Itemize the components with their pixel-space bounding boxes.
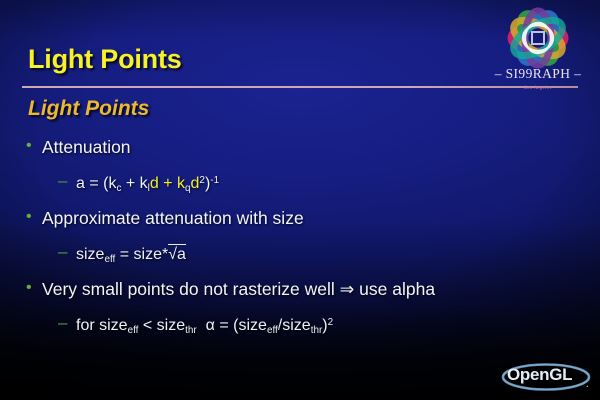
opengl-logo: OpenGL .: [500, 362, 592, 392]
bullet-dot-icon: •: [26, 138, 42, 154]
bullet-text: Approximate attenuation with size: [42, 209, 304, 227]
bullet-dash-icon: –: [58, 172, 76, 189]
slide-subtitle: Light Points: [28, 97, 149, 121]
list-item: • Approximate attenuation with size: [26, 209, 586, 228]
bullet-list: • Attenuation – a = (kc + kld + kqd2)-1 …: [26, 138, 586, 336]
bullet-dot-icon: •: [26, 280, 42, 296]
list-item: – a = (kc + kld + kqd2)-1: [26, 174, 586, 193]
slide-canvas: – SI99RAPH – Los Angeles Light Points Li…: [0, 0, 600, 400]
bullet-text: Attenuation: [42, 138, 131, 156]
siggraph-99-logo: – SI99RAPH – Los Angeles: [482, 4, 594, 92]
list-item: • Attenuation: [26, 138, 586, 157]
bullet-dot-icon: •: [26, 209, 42, 225]
siggraph-location: Los Angeles: [482, 86, 594, 91]
list-item: – for sizeeff < sizethrα = (sizeeff/size…: [26, 316, 586, 335]
opengl-wordmark: OpenGL: [507, 365, 572, 385]
equation-alpha: for sizeeff < sizethrα = (sizeeff/sizeth…: [76, 318, 333, 335]
bullet-text: Very small points do not rasterize well …: [42, 280, 435, 298]
list-item: • Very small points do not rasterize wel…: [26, 280, 586, 299]
siggraph-wordmark: – SI99RAPH –: [482, 66, 594, 82]
equation-effective-size: sizeeff = size*√a: [76, 247, 186, 264]
bullet-dash-icon: –: [58, 314, 76, 331]
page-title: Light Points: [28, 44, 182, 75]
equation-attenuation: a = (kc + kld + kqd2)-1: [76, 176, 219, 193]
bullet-dash-icon: –: [58, 243, 76, 260]
opengl-trademark-dot: .: [586, 376, 589, 390]
list-item: – sizeeff = size*√a: [26, 245, 586, 264]
